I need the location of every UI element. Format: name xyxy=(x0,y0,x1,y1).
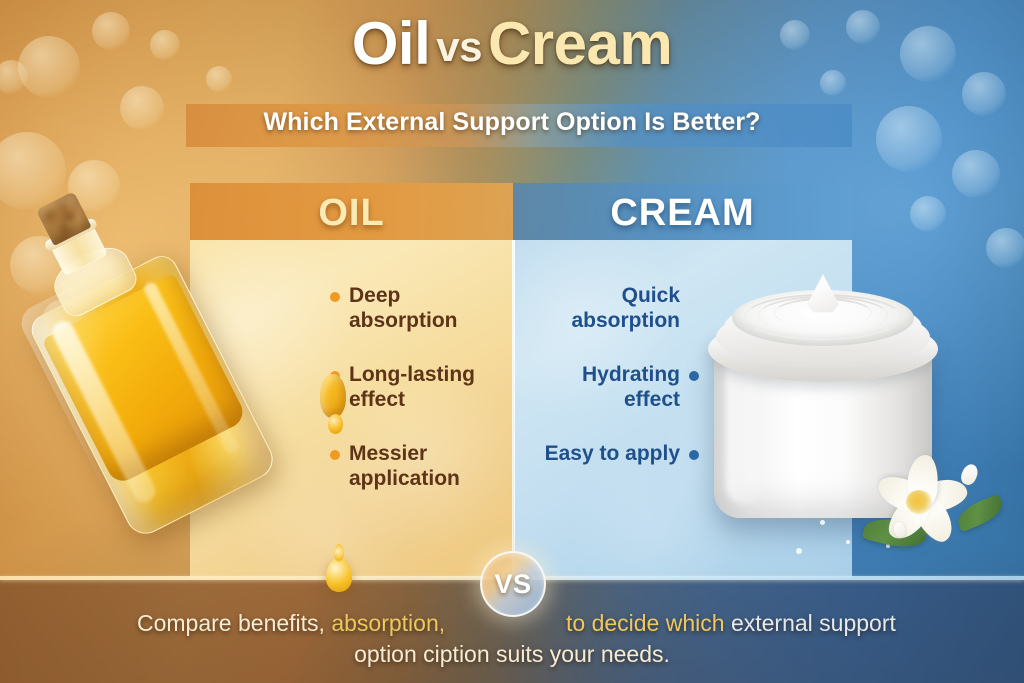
caption-text-highlight: absorption, xyxy=(331,610,445,636)
list-item-label: Easy to apply xyxy=(545,441,680,466)
cream-jar-illustration xyxy=(700,248,1020,568)
title-word-vs: vs xyxy=(430,23,488,70)
plumeria-flower-icon xyxy=(872,446,992,556)
vs-badge-label: VS xyxy=(494,569,531,600)
vs-badge: VS xyxy=(480,551,546,617)
sparkle xyxy=(846,540,850,544)
caption-text-highlight: to decide which xyxy=(566,610,725,636)
list-item: Hydrating effect xyxy=(524,362,699,412)
list-item-label: Deep absorption xyxy=(349,283,505,333)
caption-segment-right: to decide which external support xyxy=(566,608,896,639)
page-subtitle: Which External Support Option Is Better? xyxy=(0,108,1024,137)
sparkle xyxy=(820,520,825,525)
oil-drip xyxy=(320,374,346,418)
flower-center xyxy=(906,490,932,514)
oil-drip xyxy=(328,414,343,434)
vertical-divider xyxy=(512,240,515,578)
caption-line-2: option ciption suits your needs. xyxy=(0,639,1024,670)
oil-benefits-list: Deep absorption Long-lasting effect Mess… xyxy=(330,283,505,491)
sparkle xyxy=(796,548,802,554)
caption-text: external support xyxy=(731,610,896,636)
list-item: Long-lasting effect xyxy=(330,362,505,412)
bullet-dot-icon xyxy=(689,371,699,381)
bullet-dot-icon xyxy=(689,450,699,460)
list-item: Easy to apply xyxy=(524,441,699,466)
list-item: Deep absorption xyxy=(330,283,505,333)
list-item-label: Messier application xyxy=(349,441,505,491)
cream-benefits-list: Quick absorption Hydrating effect Easy t… xyxy=(524,283,699,466)
title-word-cream: Cream xyxy=(488,10,672,77)
list-item-label: Hydrating effect xyxy=(524,362,680,412)
oil-bottle-illustration xyxy=(42,158,342,568)
oil-bottle xyxy=(3,188,314,544)
page-title: OilvsCream xyxy=(0,14,1024,74)
infographic-canvas: OilvsCream Which External Support Option… xyxy=(0,0,1024,683)
list-item-label: Quick absorption xyxy=(524,283,680,333)
cream-column-header: CREAM xyxy=(513,187,852,239)
caption-segment-left: Compare benefits, absorption, xyxy=(137,608,445,639)
caption-text: option ciption suits your needs. xyxy=(354,641,670,667)
list-item: Quick absorption xyxy=(524,283,699,333)
list-item-label: Long-lasting effect xyxy=(349,362,505,412)
list-item: Messier application xyxy=(330,441,505,491)
title-word-oil: Oil xyxy=(352,10,431,77)
oil-droplet xyxy=(326,558,352,592)
caption-text: Compare benefits, xyxy=(137,610,325,636)
